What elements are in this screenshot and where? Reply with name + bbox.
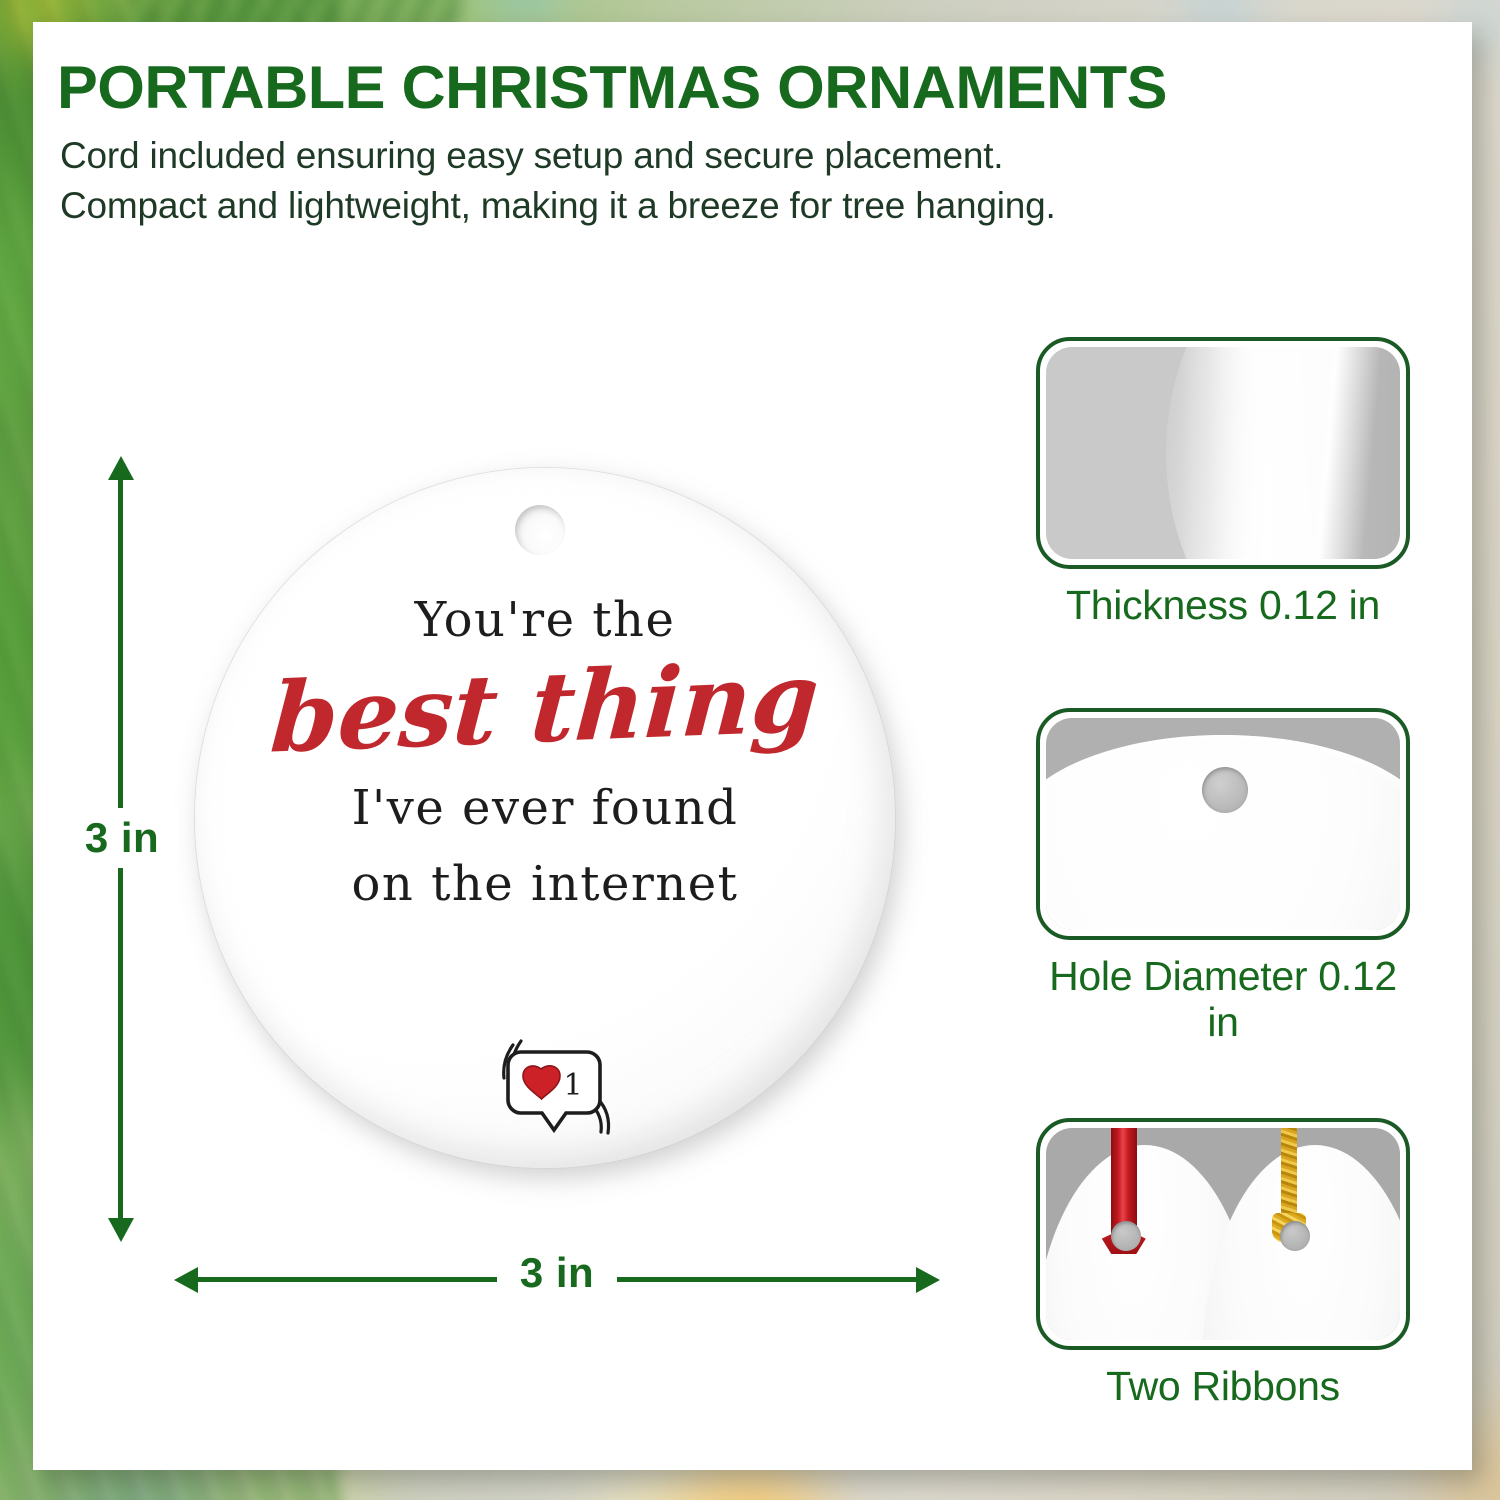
feature-hole-diameter: Hole Diameter 0.12 in xyxy=(1036,708,1410,1046)
like-count: 1 xyxy=(563,1068,582,1103)
feature-thickness: Thickness 0.12 in xyxy=(1036,337,1410,629)
heart-badge-svg: 1 xyxy=(487,1032,617,1150)
feature-ribbons-label: Two Ribbons xyxy=(1036,1364,1410,1410)
heart-notification-badge: 1 xyxy=(487,1032,617,1150)
feature-thickness-label: Thickness 0.12 in xyxy=(1036,583,1410,629)
feature-ribbons-image-box xyxy=(1036,1118,1410,1350)
height-dimension-label: 3 in xyxy=(66,808,178,868)
gold-cord-icon xyxy=(1281,1128,1297,1221)
feature-two-ribbons: Two Ribbons xyxy=(1036,1118,1410,1410)
subtitle-line-1: Cord included ensuring easy setup and se… xyxy=(60,137,1400,174)
hole-dot-icon xyxy=(1202,767,1248,813)
feature-hole-label: Hole Diameter 0.12 in xyxy=(1036,954,1410,1046)
speech-bubble-icon xyxy=(508,1052,600,1130)
two-ribbons-red-and-gold-photo xyxy=(1046,1128,1400,1340)
product-infographic: PORTABLE CHRISTMAS ORNAMENTS Cord includ… xyxy=(0,0,1500,1500)
subtitle-line-2: Compact and lightweight, making it a bre… xyxy=(60,187,1400,224)
disc-hole-right xyxy=(1280,1221,1310,1251)
ornament-hanging-hole xyxy=(515,505,565,555)
feature-thickness-image-box xyxy=(1036,337,1410,569)
ornament-hanging-hole-photo xyxy=(1046,718,1400,930)
feature-hole-image-box xyxy=(1036,708,1410,940)
page-title: PORTABLE CHRISTMAS ORNAMENTS xyxy=(57,58,1424,118)
ornament-edge-thickness-photo xyxy=(1046,347,1400,559)
width-dimension-label: 3 in xyxy=(497,1245,617,1301)
